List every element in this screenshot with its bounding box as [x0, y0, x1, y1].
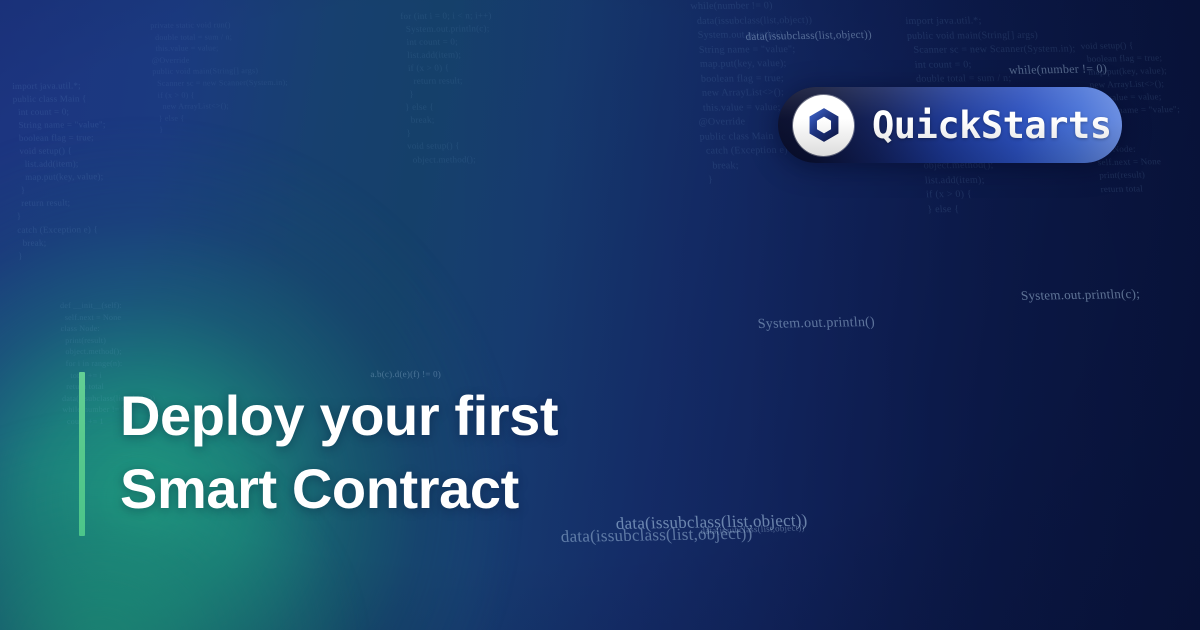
quickstarts-badge[interactable]: QuickStarts: [778, 87, 1122, 163]
page-title-line-1: Deploy your first: [120, 379, 740, 452]
page-title: Deploy your first Smart Contract: [120, 379, 740, 525]
page-title-line-2: Smart Contract: [120, 452, 740, 525]
badge-label: QuickStarts: [872, 104, 1112, 147]
accent-bar: [79, 372, 85, 536]
quickstarts-banner: import java.util.*;public class Main { i…: [0, 0, 1200, 630]
chainlink-hexagon-icon: [805, 106, 843, 144]
chainlink-logo: [793, 95, 854, 156]
